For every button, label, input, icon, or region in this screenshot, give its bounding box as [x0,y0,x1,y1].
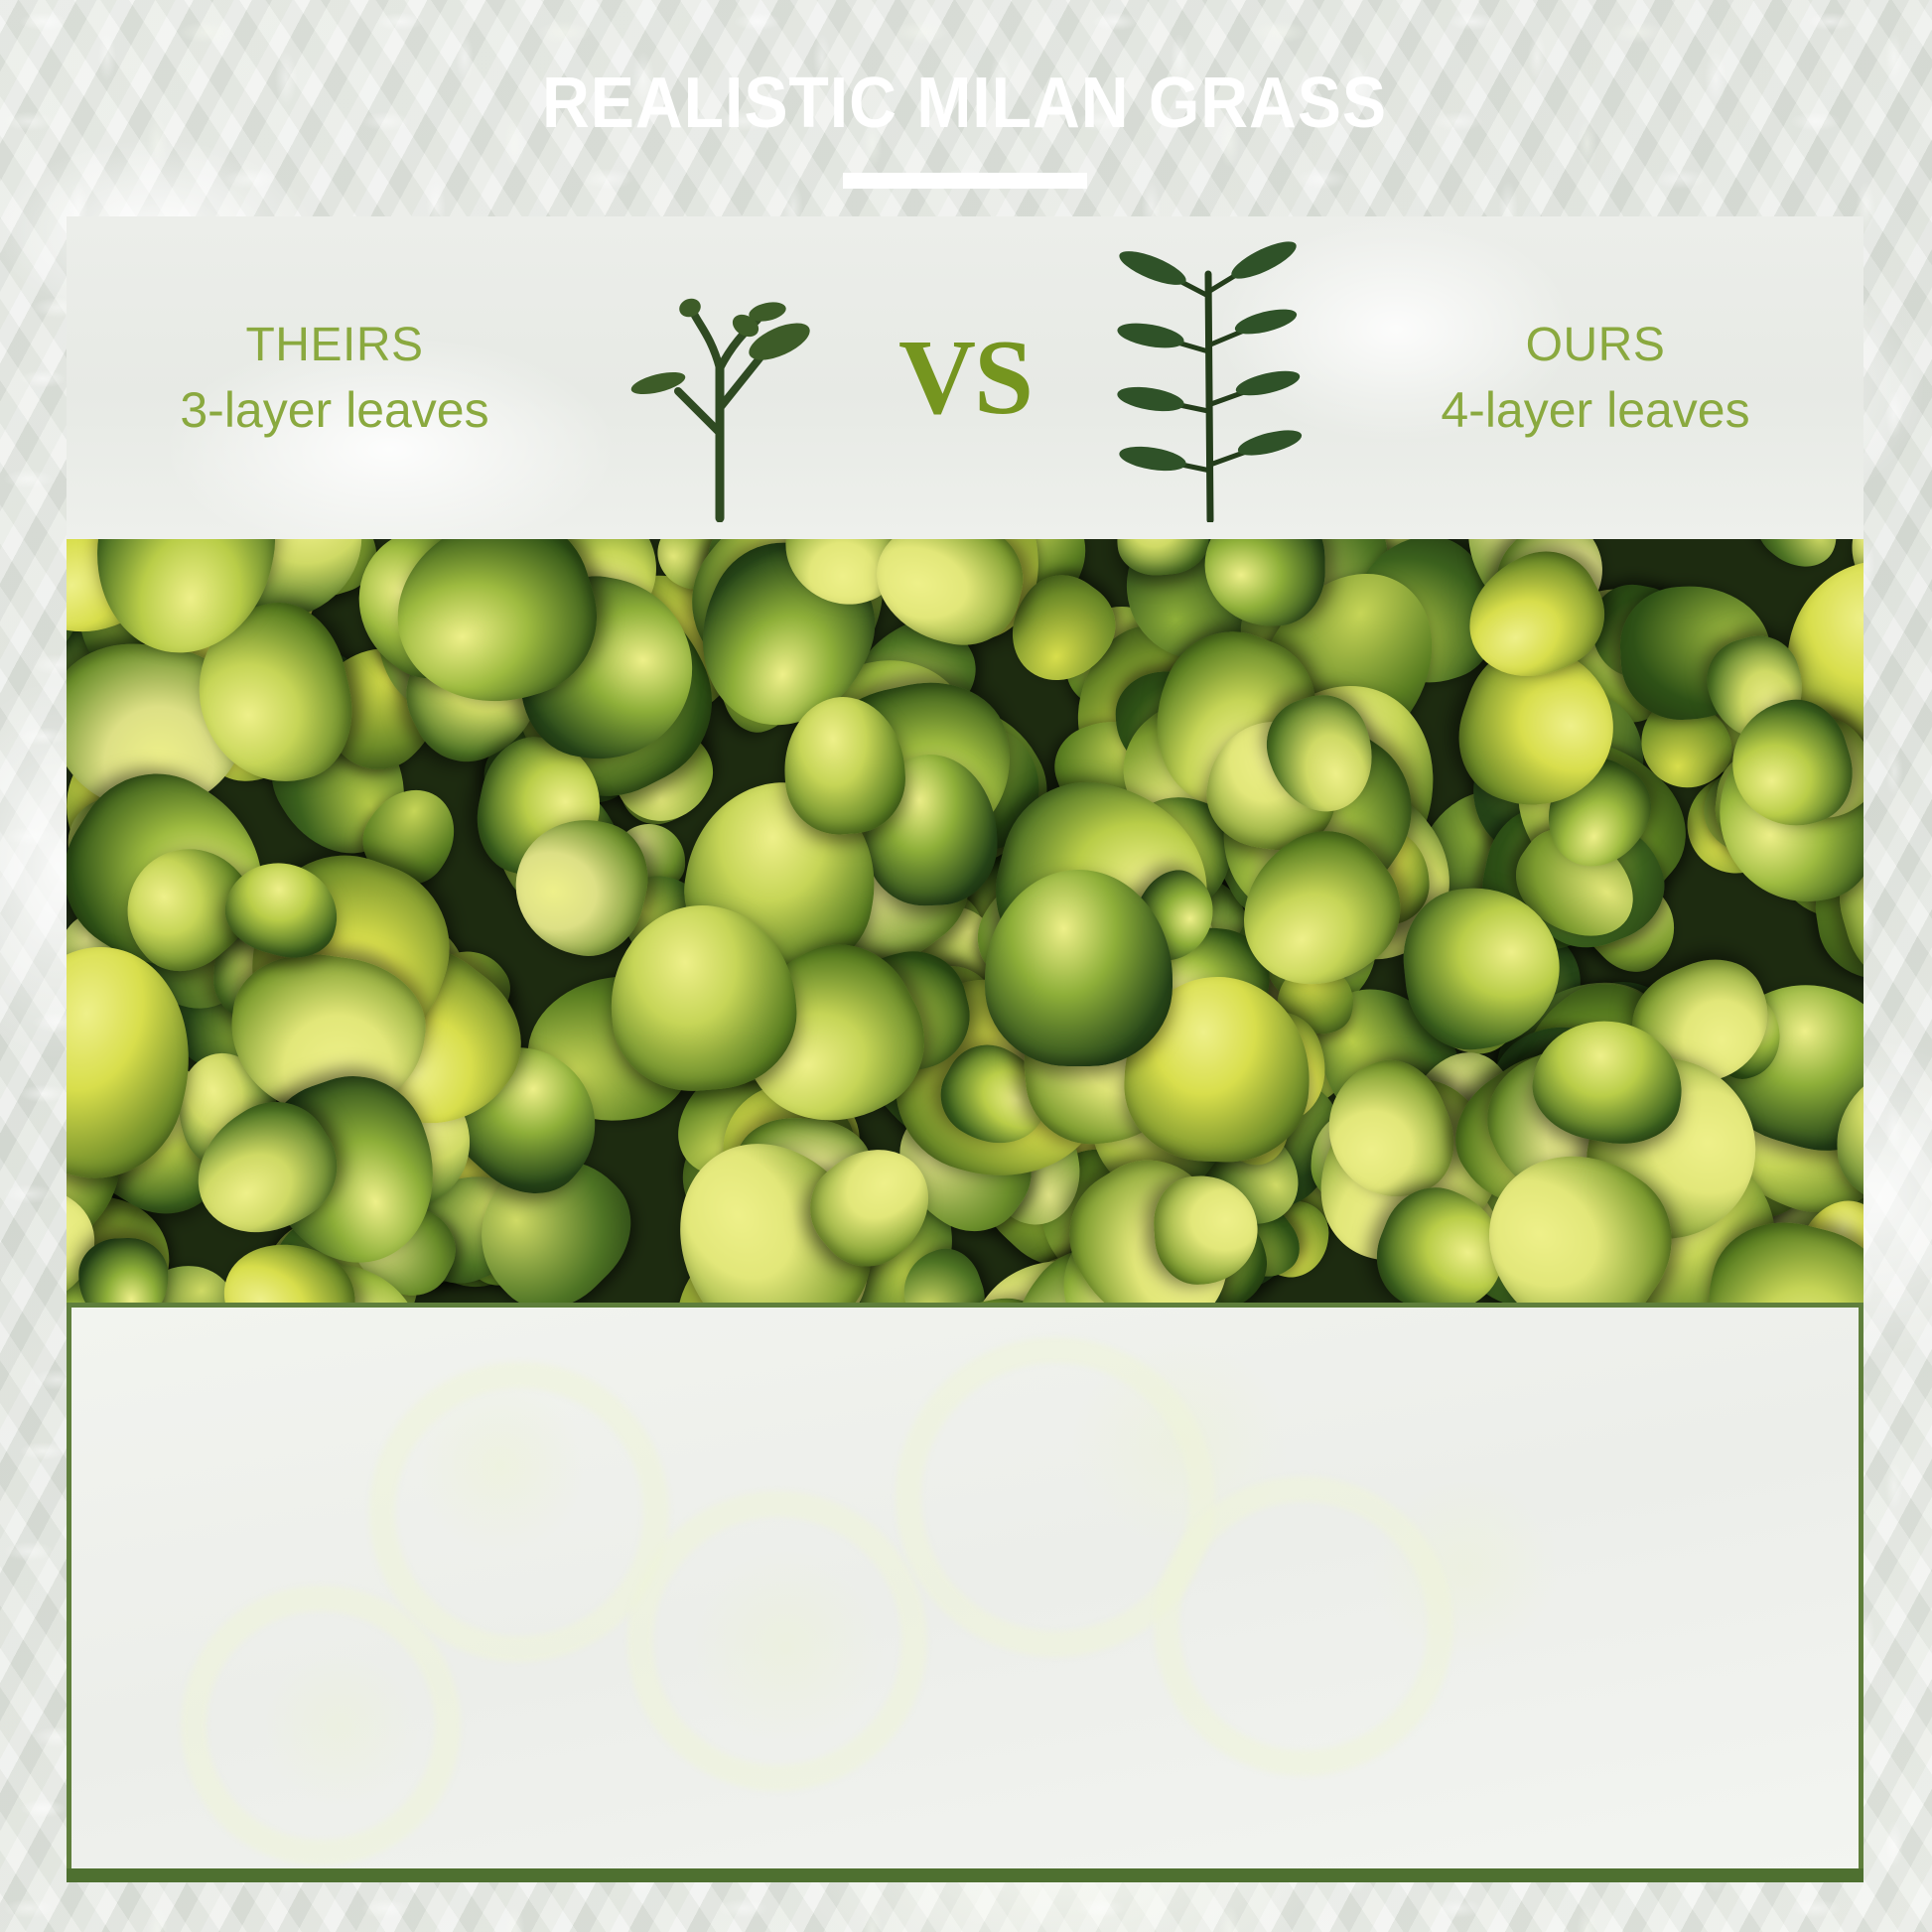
header-banner: REALISTIC MILAN GRASS [67,30,1863,216]
comparison-band: THEIRS 3-layer leaves [67,216,1863,539]
vs-separator-label: VS [898,325,1032,432]
page-title: REALISTIC MILAN GRASS [542,68,1387,139]
ours-detail: 4-layer leaves [1441,378,1749,443]
comparison-ours-column: OURS 4-layer leaves [1387,313,1804,443]
leaf-texture [67,539,1863,1303]
theirs-label: THEIRS [245,313,423,378]
ours-label: OURS [1526,313,1666,378]
watermark-ring [369,1362,669,1662]
sparse-plant-sprig-icon [617,234,825,522]
product-photo [67,539,1863,1303]
watermark-ring [1154,1476,1453,1776]
features-bottom-border [67,1868,1863,1882]
watermark-ring [181,1586,461,1865]
infographic-page: REALISTIC MILAN GRASS THEIRS 3-layer lea… [0,0,1932,1932]
comparison-theirs-column: THEIRS 3-layer leaves [126,313,543,443]
watermark-ring [627,1491,927,1791]
dense-plant-sprig-icon [1105,234,1313,522]
theirs-detail: 3-layer leaves [180,378,488,443]
title-underline-rule [843,173,1087,189]
features-panel [67,1303,1863,1873]
